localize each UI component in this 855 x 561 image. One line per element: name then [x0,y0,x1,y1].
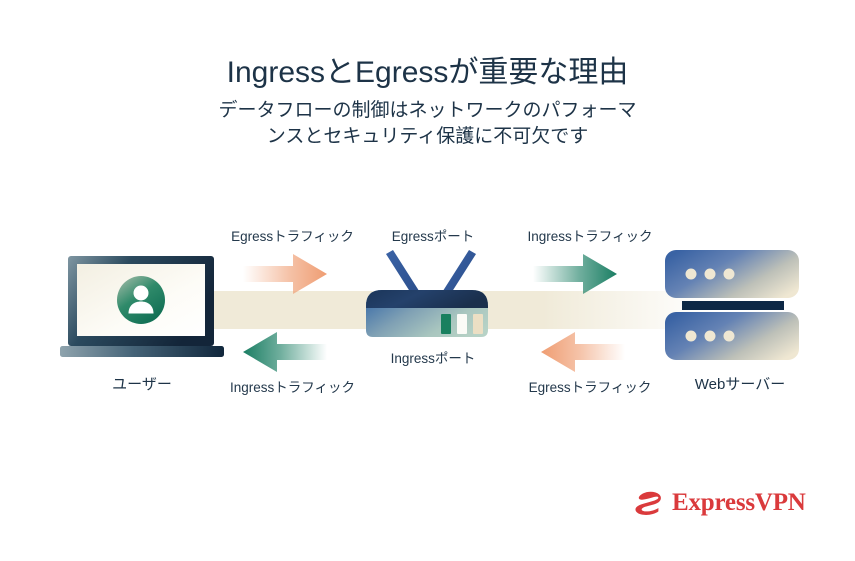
arrow-egress-left [541,330,625,374]
label-egress-traffic-bottom: Egressトラフィック [500,379,680,397]
network-flow-diagram: Egressトラフィック Egressポート Ingressトラフィック Ing… [0,0,855,561]
label-egress-port: Egressポート [368,228,498,246]
label-egress-traffic-top: Egressトラフィック [205,228,380,246]
arrow-egress-right [243,252,327,296]
brand-wordmark: ExpressVPN [672,488,806,518]
label-ingress-traffic-bottom: Ingressトラフィック [205,379,380,397]
expressvpn-logo-icon [633,488,663,518]
arrow-ingress-left [243,330,327,374]
label-ingress-port: Ingressポート [368,350,498,368]
device-label-user: ユーザー [72,375,212,395]
device-label-web-server: Webサーバー [665,375,815,395]
laptop-user-icon [60,250,232,362]
expressvpn-logo: ExpressVPN [633,484,793,522]
server-icon [662,248,802,362]
label-ingress-traffic-top: Ingressトラフィック [495,228,685,246]
arrow-ingress-right [533,252,617,296]
router-icon [342,246,512,346]
